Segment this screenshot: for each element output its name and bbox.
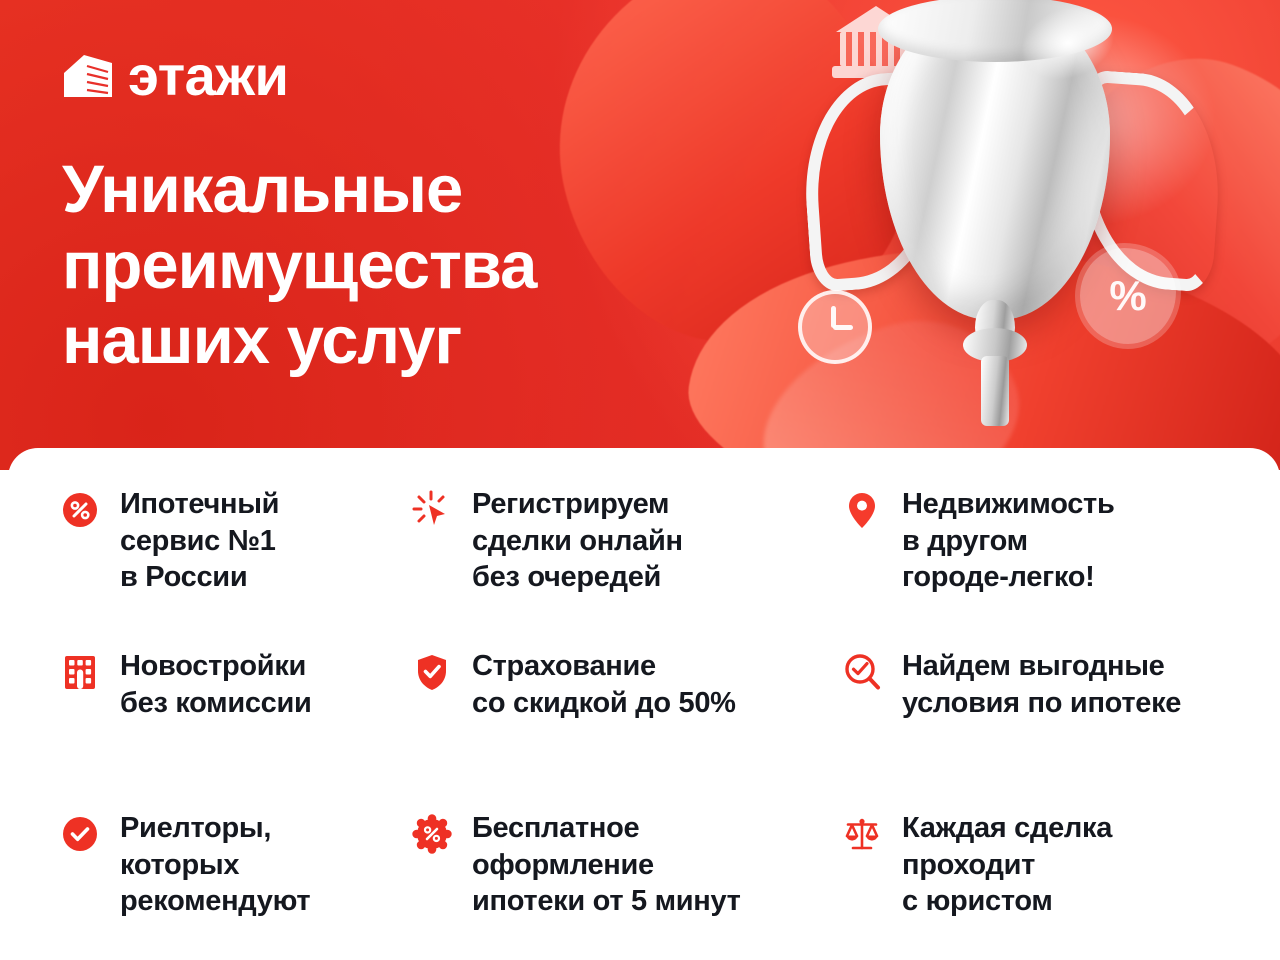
search-check-icon [842, 652, 882, 692]
feature-line: с юристом [902, 883, 1112, 920]
feature-item: Каждая сделка проходит с юристом [842, 810, 1250, 950]
headline-line-3: наших услуг [62, 303, 702, 379]
trophy-stem [981, 356, 1009, 426]
feature-text: Каждая сделка проходит с юристом [902, 810, 1112, 920]
page-title: Уникальные преимущества наших услуг [62, 152, 702, 379]
feature-text: Регистрируем сделки онлайн без очередей [472, 486, 683, 596]
feature-text: Найдем выгодные условия по ипотеке [902, 648, 1181, 721]
promo-poster: % этажи Уникальные преимущества наших ус… [0, 0, 1280, 960]
trophy-3d-illustration: % [770, 0, 1240, 450]
feature-item: Риелторы, которых рекомендуют [60, 810, 412, 950]
feature-line: Риелторы, [120, 810, 310, 847]
feature-line: со скидкой до 50% [472, 685, 736, 722]
feature-line: Бесплатное [472, 810, 741, 847]
feature-text: Страхование со скидкой до 50% [472, 648, 736, 721]
feature-line: Новостройки [120, 648, 312, 685]
feature-line: Страхование [472, 648, 736, 685]
feature-line: Недвижимость [902, 486, 1114, 523]
feature-text: Бесплатное оформление ипотеки от 5 минут [472, 810, 741, 920]
feature-line: без комиссии [120, 685, 312, 722]
feature-item: Бесплатное оформление ипотеки от 5 минут [412, 810, 842, 950]
headline-line-1: Уникальные [62, 152, 702, 228]
feature-item: Страхование со скидкой до 50% [412, 648, 842, 788]
feature-line: Регистрируем [472, 486, 683, 523]
shield-check-icon [412, 652, 452, 692]
hero-banner: % этажи Уникальные преимущества наших ус… [0, 0, 1280, 470]
feature-line: сделки онлайн [472, 523, 683, 560]
feature-item: Найдем выгодные условия по ипотеке [842, 648, 1250, 788]
feature-item: Недвижимость в другом городе-легко! [842, 486, 1250, 626]
feature-line: Каждая сделка [902, 810, 1112, 847]
feature-line: Найдем выгодные [902, 648, 1181, 685]
feature-line: городе-легко! [902, 559, 1114, 596]
feature-line: в России [120, 559, 279, 596]
percent-circle-icon [60, 490, 100, 530]
feature-text: Риелторы, которых рекомендуют [120, 810, 310, 920]
feature-line: условия по ипотеке [902, 685, 1181, 722]
cursor-click-icon [412, 490, 452, 530]
features-grid: Ипотечный сервис №1 в России [60, 486, 1250, 950]
building-logo-icon [62, 53, 114, 99]
feature-line: ипотеки от 5 минут [472, 883, 741, 920]
feature-item: Новостройки без комиссии [60, 648, 412, 788]
feature-item: Ипотечный сервис №1 в России [60, 486, 412, 626]
headline-line-2: преимущества [62, 228, 702, 304]
features-card: etagi Ипотечный сервис №1 в России [8, 448, 1280, 960]
brand-logo[interactable]: этажи [62, 48, 288, 104]
check-circle-icon [60, 814, 100, 854]
feature-line: рекомендуют [120, 883, 310, 920]
feature-line: в другом [902, 523, 1114, 560]
apartment-building-icon [60, 652, 100, 692]
feature-line: которых [120, 847, 310, 884]
percent-badge-icon [412, 814, 452, 854]
feature-text: Недвижимость в другом городе-легко! [902, 486, 1114, 596]
feature-text: Новостройки без комиссии [120, 648, 312, 721]
brand-name: этажи [128, 48, 288, 104]
feature-text: Ипотечный сервис №1 в России [120, 486, 279, 596]
feature-line: сервис №1 [120, 523, 279, 560]
feature-line: Ипотечный [120, 486, 279, 523]
percent-badge-icon: % [1080, 248, 1176, 344]
scales-justice-icon [842, 814, 882, 854]
feature-item: Регистрируем сделки онлайн без очередей [412, 486, 842, 626]
map-pin-icon [842, 490, 882, 530]
feature-line: проходит [902, 847, 1112, 884]
feature-line: без очередей [472, 559, 683, 596]
feature-line: оформление [472, 847, 741, 884]
clock-icon [798, 290, 872, 364]
